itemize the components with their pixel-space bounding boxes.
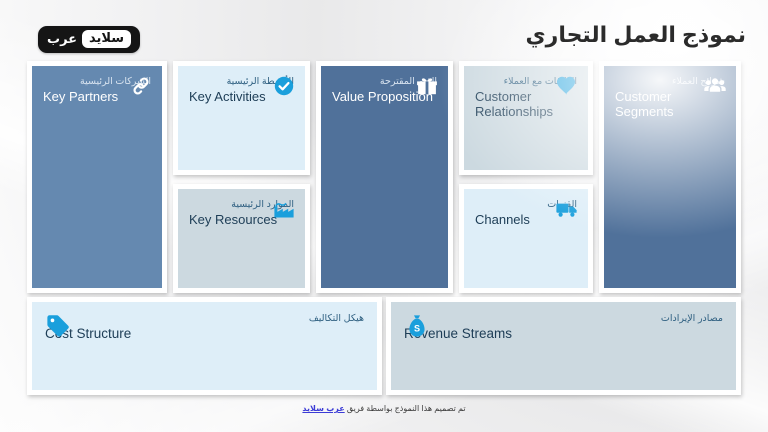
canvas-bottom-row: هيكل التكاليف Cost Structure S مصادر الإ… — [27, 297, 741, 395]
spacer — [173, 175, 310, 184]
cell-revenue-streams: S مصادر الإيرادات Revenue Streams — [386, 297, 741, 395]
block-value-proposition[interactable]: القيم المقترحة Value Proposition — [321, 66, 448, 288]
slide-canvas: سلايد عرب نموذج العمل التجاري الشركات ال… — [0, 0, 768, 432]
heart-icon — [555, 74, 579, 98]
block-customer-segments[interactable]: شرائح العملاء Customer Segments — [604, 66, 736, 288]
block-revenue-streams[interactable]: S مصادر الإيرادات Revenue Streams — [391, 302, 736, 390]
column-customer-segments: شرائح العملاء Customer Segments — [599, 61, 741, 293]
users-icon — [703, 74, 727, 98]
factory-icon — [272, 197, 296, 221]
block-key-resources[interactable]: الموارد الرئيسية Key Resources — [178, 189, 305, 288]
money-bag-icon: S — [404, 313, 430, 339]
arabslide-logo: سلايد عرب — [38, 26, 140, 53]
cell-cost-structure: هيكل التكاليف Cost Structure — [27, 297, 382, 395]
page-title: نموذج العمل التجاري — [525, 22, 746, 48]
block-label-en: Cost Structure — [45, 326, 364, 342]
block-label-ar: هيكل التكاليف — [45, 313, 364, 325]
footer-link[interactable]: عرب سلايد — [302, 404, 344, 413]
logo-pill-text: سلايد — [82, 30, 131, 48]
block-label-ar: مصادر الإيرادات — [404, 313, 723, 325]
price-tag-icon — [45, 313, 71, 339]
block-key-activities[interactable]: الأنشطة الرئيسية Key Activities — [178, 66, 305, 170]
block-label-en: Revenue Streams — [404, 326, 723, 342]
truck-icon — [555, 197, 579, 221]
footer-text: تم تصميم هذا النموذج بواسطة فريق — [347, 404, 466, 413]
footer-credit: تم تصميم هذا النموذج بواسطة فريق عرب سلا… — [0, 404, 768, 413]
svg-text:S: S — [414, 324, 420, 334]
block-customer-relationships[interactable]: العلاقات مع العملاء Customer Relationshi… — [464, 66, 588, 170]
column-value-proposition: القيم المقترحة Value Proposition — [316, 61, 453, 293]
spacer — [459, 175, 593, 184]
block-channels[interactable]: القنوات Channels — [464, 189, 588, 288]
block-key-partners[interactable]: الشركات الرئيسية Key Partners — [32, 66, 162, 288]
block-cost-structure[interactable]: هيكل التكاليف Cost Structure — [32, 302, 377, 390]
logo-word-text: عرب — [47, 32, 77, 47]
business-model-canvas-grid: الشركات الرئيسية Key Partners الأنشطة ال… — [27, 61, 741, 293]
column-key-partners: الشركات الرئيسية Key Partners — [27, 61, 167, 293]
check-circle-icon — [272, 74, 296, 98]
gift-icon — [415, 74, 439, 98]
link-icon — [129, 74, 153, 98]
column-key-activities-resources: الأنشطة الرئيسية Key Activities الموارد … — [173, 61, 310, 293]
column-relationships-channels: العلاقات مع العملاء Customer Relationshi… — [459, 61, 593, 293]
